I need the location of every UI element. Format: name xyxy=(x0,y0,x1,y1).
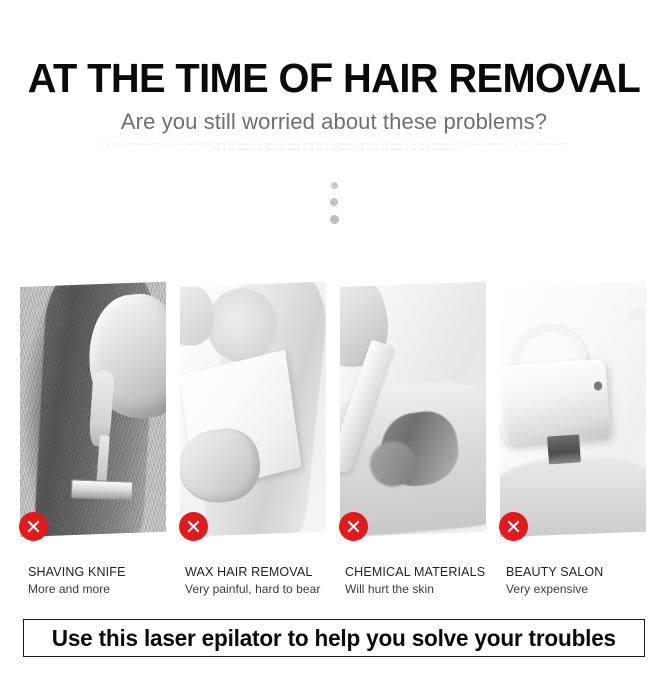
caption-title: SHAVING KNIFE xyxy=(28,565,174,581)
caption-title: WAX HAIR REMOVAL xyxy=(185,565,334,581)
call-to-action-banner: Use this laser epilator to help you solv… xyxy=(23,619,645,657)
page-header: AT THE TIME OF HAIR REMOVAL Are you stil… xyxy=(0,0,668,160)
panel-caption-shaving-knife: SHAVING KNIFE More and more xyxy=(14,565,174,597)
panel-caption-wax-hair-removal: WAX HAIR REMOVAL Very painful, hard to b… xyxy=(174,565,334,597)
caption-subtitle: Very painful, hard to bear xyxy=(185,582,334,598)
problem-panel-chemical-materials xyxy=(334,287,494,549)
shaving-knife-photo xyxy=(20,282,166,537)
divider-dot xyxy=(330,215,339,224)
panel-caption-chemical-materials: CHEMICAL MATERIALS Will hurt the skin xyxy=(334,565,494,597)
caption-title: BEAUTY SALON xyxy=(506,565,654,581)
wax-strip-photo xyxy=(180,282,326,537)
cross-mark-icon xyxy=(179,512,208,541)
page-subtitle: Are you still worried about these proble… xyxy=(0,111,668,133)
caption-subtitle: More and more xyxy=(28,582,174,598)
section-divider-dots xyxy=(328,182,340,224)
panel-photo-frame xyxy=(180,282,326,537)
micro-copy-watermark: AT THE TIME OF HAIR REMOVAL AT THE TIME … xyxy=(99,142,569,160)
beauty-salon-laser-photo xyxy=(500,282,646,537)
problem-panel-beauty-salon xyxy=(494,287,654,549)
panel-photo-frame xyxy=(20,282,166,537)
problem-panel-wax-hair-removal xyxy=(174,287,334,549)
divider-dot xyxy=(331,182,338,189)
cross-mark-icon xyxy=(339,512,368,541)
divider-dot xyxy=(330,198,338,206)
problem-panel-shaving-knife xyxy=(14,287,174,549)
panel-photo-frame xyxy=(500,282,646,537)
call-to-action-text: Use this laser epilator to help you solv… xyxy=(52,625,616,652)
cross-mark-icon xyxy=(19,512,48,541)
page-title: AT THE TIME OF HAIR REMOVAL xyxy=(10,58,658,99)
caption-subtitle: Will hurt the skin xyxy=(345,582,494,598)
panel-caption-list: SHAVING KNIFE More and more WAX HAIR REM… xyxy=(14,565,654,597)
panel-photo-frame xyxy=(340,282,486,537)
chemical-cream-photo xyxy=(340,282,486,537)
problem-panel-list xyxy=(14,287,654,549)
caption-title: CHEMICAL MATERIALS xyxy=(345,565,494,581)
caption-subtitle: Very expensive xyxy=(506,582,654,598)
panel-caption-beauty-salon: BEAUTY SALON Very expensive xyxy=(494,565,654,597)
cross-mark-icon xyxy=(499,512,528,541)
